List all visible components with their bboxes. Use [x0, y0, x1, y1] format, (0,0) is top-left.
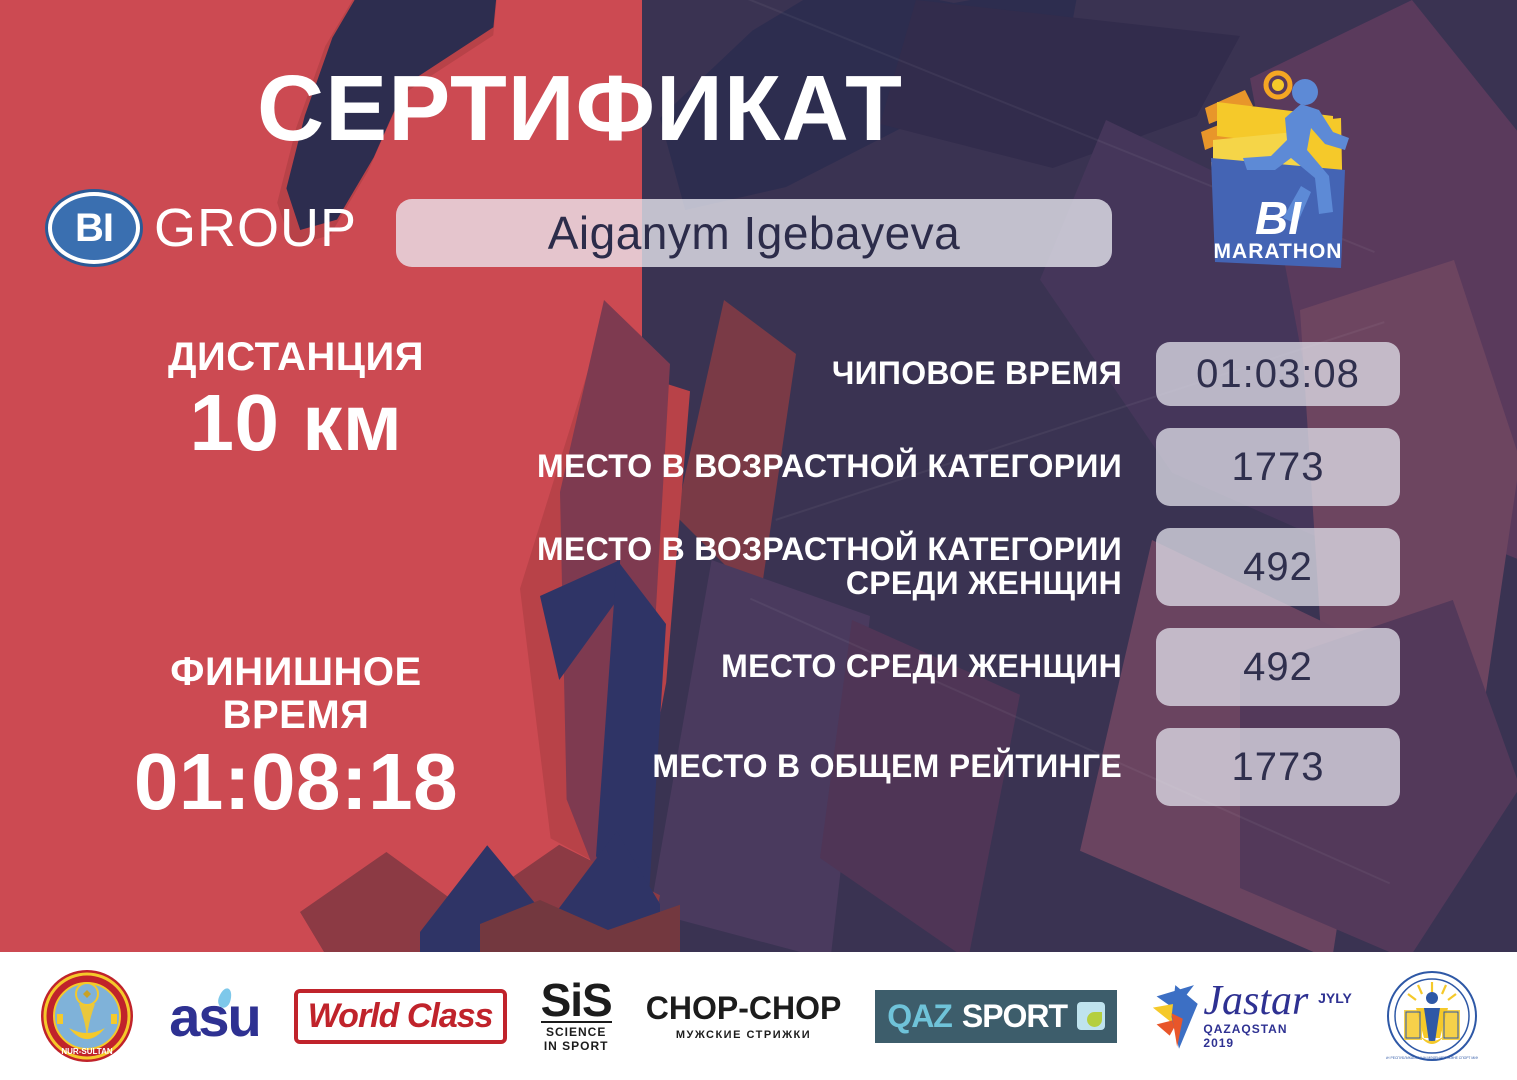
stat-distance: ДИСТАНЦИЯ 10 км: [56, 336, 536, 465]
stat-age-category-women-place-value: 492: [1156, 528, 1400, 606]
jastar-wordmark: Jastar: [1203, 982, 1312, 1022]
svg-text:BI: BI: [1255, 192, 1302, 244]
stat-finish-time-label: ФИНИШНОЕ ВРЕМЯ: [131, 651, 461, 737]
sponsor-nur-sultan-emblem: NUR-SULTAN: [39, 968, 135, 1064]
stat-row-age-category-women-place: МЕСТО В ВОЗРАСТНОЙ КАТЕГОРИИ СРЕДИ ЖЕНЩИ…: [530, 528, 1400, 606]
asu-wordmark: asu: [169, 984, 260, 1049]
jastar-text-block: Jastar QAZAQSTAN 2019: [1203, 982, 1312, 1050]
stat-age-category-place-label: МЕСТО В ВОЗРАСТНОЙ КАТЕГОРИИ: [530, 450, 1122, 484]
bi-group-wordmark: GROUP: [154, 197, 357, 259]
sponsor-qazsport: QAZSPORT: [875, 968, 1117, 1064]
page-title: СЕРТИФИКАТ: [0, 62, 1160, 155]
stat-chip-time-label: ЧИПОВОЕ ВРЕМЯ: [530, 357, 1122, 391]
stat-row-chip-time: ЧИПОВОЕ ВРЕМЯ 01:03:08: [530, 342, 1400, 406]
chop-chop-tagline: МУЖСКИЕ СТРИЖКИ: [646, 1029, 842, 1041]
qazsport-leaf-icon: [1077, 1002, 1105, 1030]
sis-wordmark: SiS: [541, 979, 612, 1021]
jastar-lockup: Jastar QAZAQSTAN 2019 JYLY: [1203, 982, 1351, 1050]
chop-chop-lockup: CHOP-CHOP МУЖСКИЕ СТРИЖКИ: [646, 992, 842, 1041]
ministry-emblem-icon: ҚАЗАҚСТАН РЕСПУБЛИКАСЫНЫҢ МӘДЕНИЕТ ЖӘНЕ …: [1386, 970, 1478, 1062]
sponsor-bar: NUR-SULTAN asu World Class SiS SCIENCE I…: [0, 952, 1517, 1080]
sis-tagline: SCIENCE IN SPORT: [541, 1021, 612, 1053]
stat-women-place-value: 492: [1156, 628, 1400, 706]
right-stats-group: ЧИПОВОЕ ВРЕМЯ 01:03:08 МЕСТО В ВОЗРАСТНО…: [530, 342, 1400, 828]
jastar-subtitle: QAZAQSTAN 2019: [1203, 1022, 1312, 1050]
stat-overall-place-label: МЕСТО В ОБЩЕМ РЕЙТИНГЕ: [530, 750, 1122, 784]
qazsport-text-1: QAZ: [887, 998, 952, 1035]
sponsor-science-in-sport: SiS SCIENCE IN SPORT: [541, 968, 612, 1064]
stat-overall-place-value: 1773: [1156, 728, 1400, 806]
participant-name-value: Aiganym Igebayeva: [548, 206, 961, 260]
bi-group-logo: BI GROUP: [48, 192, 357, 264]
bi-logo-badge: BI: [48, 192, 140, 264]
stat-row-overall-place: МЕСТО В ОБЩЕМ РЕЙТИНГЕ 1773: [530, 728, 1400, 806]
stat-finish-time-value: 01:08:18: [56, 740, 536, 824]
sponsor-ministry-of-culture-and-sport: ҚАЗАҚСТАН РЕСПУБЛИКАСЫНЫҢ МӘДЕНИЕТ ЖӘНЕ …: [1386, 968, 1478, 1064]
jastar-bird-icon: [1151, 973, 1203, 1059]
certificate-canvas: СЕРТИФИКАТ BI GROUP Aiganym Igebayeva: [0, 0, 1517, 1080]
sponsor-chop-chop: CHOP-CHOP МУЖСКИЕ СТРИЖКИ: [646, 968, 842, 1064]
left-stats-group: ДИСТАНЦИЯ 10 км ФИНИШНОЕ ВРЕМЯ 01:08:18: [56, 336, 536, 824]
ministry-emblem-label: ҚАЗАҚСТАН РЕСПУБЛИКАСЫНЫҢ МӘДЕНИЕТ ЖӘНЕ …: [1386, 1056, 1478, 1060]
stat-distance-label: ДИСТАНЦИЯ: [56, 336, 536, 379]
world-class-wordmark: World Class: [294, 989, 507, 1044]
bi-marathon-logo-graphic: BI MARATHON: [1183, 66, 1373, 296]
participant-name-field: Aiganym Igebayeva: [396, 199, 1112, 267]
qazsport-text-2: SPORT: [962, 998, 1067, 1035]
stat-women-place-label: МЕСТО СРЕДИ ЖЕНЩИН: [530, 650, 1122, 684]
qazsport-lockup: QAZSPORT: [875, 990, 1117, 1043]
stat-chip-time-value: 01:03:08: [1156, 342, 1400, 406]
chop-chop-wordmark: CHOP-CHOP: [646, 992, 842, 1024]
stat-row-age-category-place: МЕСТО В ВОЗРАСТНОЙ КАТЕГОРИИ 1773: [530, 428, 1400, 506]
stat-row-women-place: МЕСТО СРЕДИ ЖЕНЩИН 492: [530, 628, 1400, 706]
sis-lockup: SiS SCIENCE IN SPORT: [541, 979, 612, 1053]
stat-age-category-women-place-label: МЕСТО В ВОЗРАСТНОЙ КАТЕГОРИИ СРЕДИ ЖЕНЩИ…: [530, 533, 1122, 601]
nur-sultan-emblem-label: NUR-SULTAN: [62, 1047, 113, 1056]
bi-marathon-logo: BI MARATHON: [1183, 66, 1373, 296]
asu-text: asu: [169, 985, 260, 1048]
stat-distance-value: 10 км: [56, 381, 536, 465]
jastar-jyly-tag: JYLY: [1318, 990, 1352, 1006]
stat-age-category-place-value: 1773: [1156, 428, 1400, 506]
stat-finish-time: ФИНИШНОЕ ВРЕМЯ 01:08:18: [56, 651, 536, 823]
nur-sultan-emblem-icon: NUR-SULTAN: [39, 968, 135, 1064]
svg-text:MARATHON: MARATHON: [1214, 240, 1343, 263]
sponsor-world-class: World Class: [294, 968, 507, 1064]
sponsor-asu: asu: [169, 968, 260, 1064]
sponsor-jastar-jyly: Jastar QAZAQSTAN 2019 JYLY: [1151, 968, 1352, 1064]
